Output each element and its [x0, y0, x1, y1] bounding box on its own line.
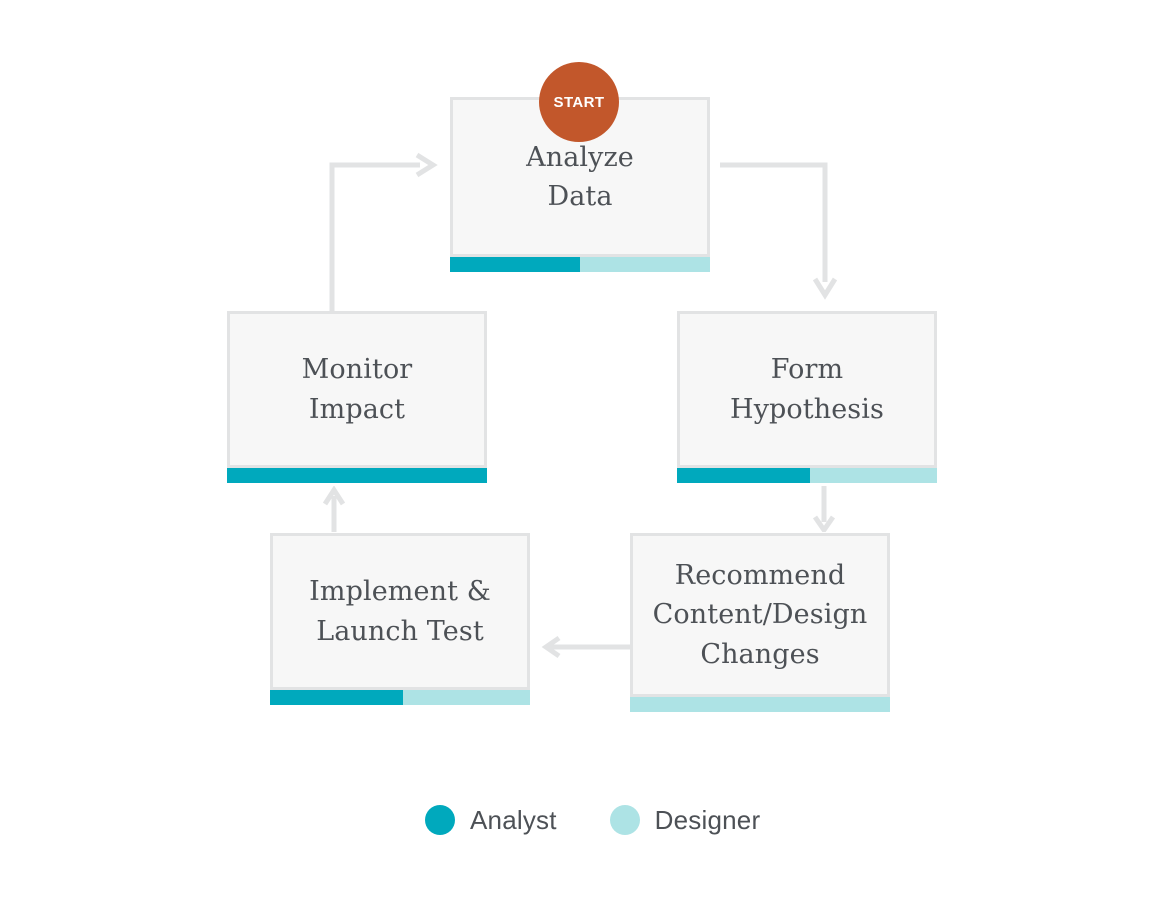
bar-segment-designer: [630, 697, 890, 712]
node-implement-launch-test-bar: [270, 690, 530, 705]
diagram-canvas: Analyze Data START Monitor Impact Form H…: [0, 0, 1164, 900]
bar-segment-designer: [810, 468, 937, 483]
node-form-hypothesis[interactable]: Form Hypothesis: [677, 311, 937, 468]
node-monitor-impact[interactable]: Monitor Impact: [227, 311, 487, 468]
bar-segment-analyst: [450, 257, 580, 272]
start-badge: START: [539, 62, 619, 142]
node-monitor-impact-label: Monitor Impact: [296, 350, 419, 429]
bar-segment-analyst: [227, 468, 487, 483]
legend-dot-designer: [610, 805, 640, 835]
legend-item-designer[interactable]: Designer: [610, 805, 761, 836]
node-analyze-data-bar: [450, 257, 710, 272]
legend: Analyst Designer: [425, 804, 760, 836]
node-analyze-data-label: Analyze Data: [520, 138, 640, 217]
node-recommend-changes[interactable]: Recommend Content/Design Changes: [630, 533, 890, 697]
legend-dot-analyst: [425, 805, 455, 835]
start-badge-label: START: [554, 94, 605, 111]
legend-label-designer: Designer: [655, 805, 761, 836]
node-monitor-impact-bar: [227, 468, 487, 483]
bar-segment-designer: [403, 690, 530, 705]
bar-segment-analyst: [677, 468, 810, 483]
connector-implement-to-monitor: [320, 486, 350, 532]
bar-segment-designer: [580, 257, 710, 272]
node-recommend-changes-label: Recommend Content/Design Changes: [647, 556, 874, 674]
bar-segment-analyst: [270, 690, 403, 705]
connector-monitor-to-analyze: [320, 150, 445, 330]
connector-form-to-recommend: [810, 486, 840, 532]
legend-item-analyst[interactable]: Analyst: [425, 805, 557, 836]
node-form-hypothesis-bar: [677, 468, 937, 483]
node-implement-launch-test-label: Implement & Launch Test: [303, 572, 497, 651]
connector-recommend-to-implement: [536, 632, 632, 662]
node-form-hypothesis-label: Form Hypothesis: [724, 350, 890, 429]
node-recommend-changes-bar: [630, 697, 890, 712]
connector-analyze-to-form: [715, 150, 840, 310]
node-implement-launch-test[interactable]: Implement & Launch Test: [270, 533, 530, 690]
legend-label-analyst: Analyst: [470, 805, 557, 836]
